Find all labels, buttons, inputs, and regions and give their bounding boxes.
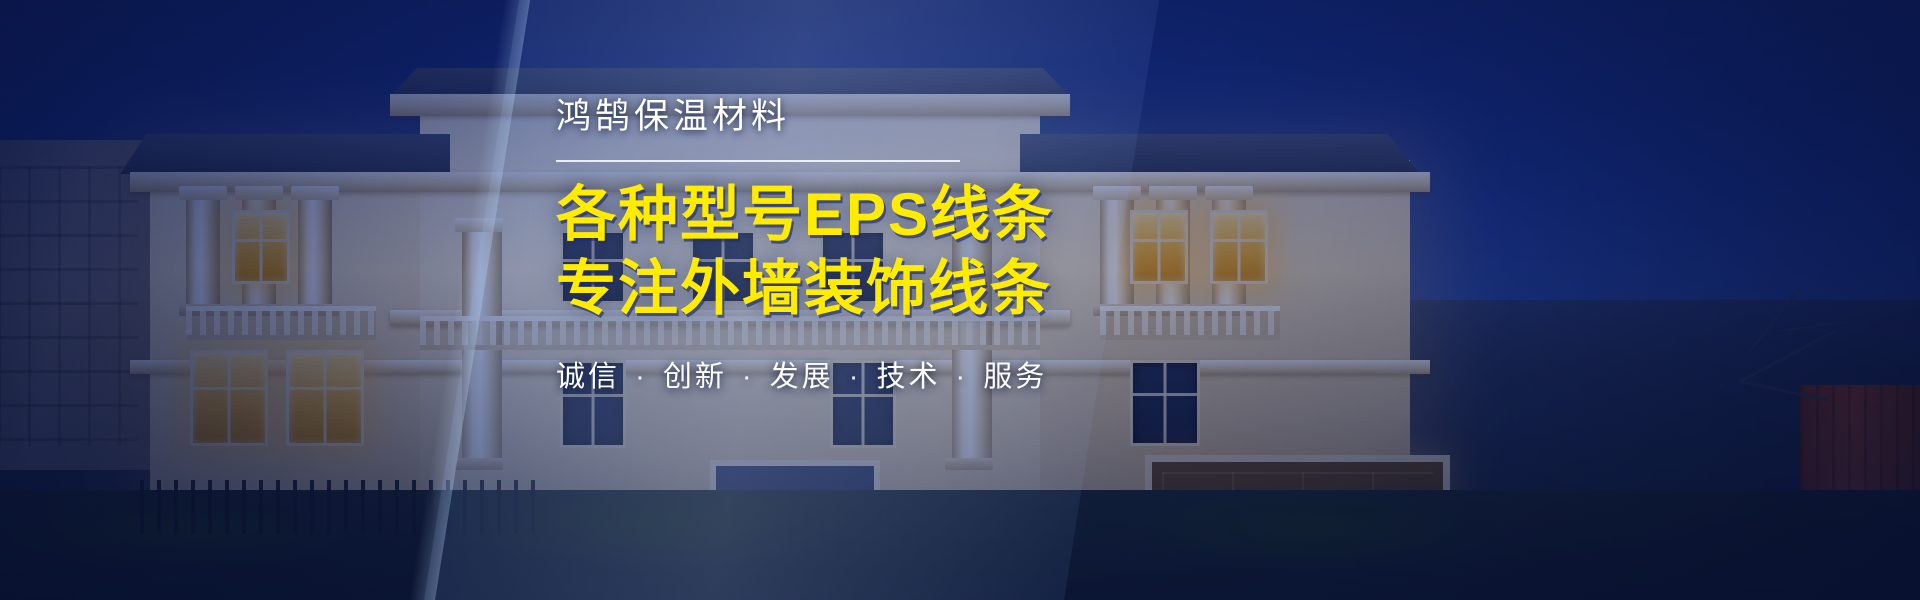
tagline-separator: · — [952, 361, 973, 393]
headline-line-1: 各种型号EPS线条 — [556, 178, 1316, 252]
tagline-separator: · — [845, 361, 866, 393]
tagline-item: 服务 — [983, 361, 1047, 393]
tagline-item: 发展 — [770, 361, 834, 393]
headline-line-2: 专注外墙装饰线条 — [556, 252, 1316, 326]
tagline: 诚信 · 创新 · 发展 · 技术 · 服务 — [556, 353, 1316, 395]
banner-copy: 鸿鹄保温材料 各种型号EPS线条 专注外墙装饰线条 诚信 · 创新 · 发展 ·… — [556, 96, 1316, 395]
tagline-separator: · — [738, 361, 759, 393]
promo-banner: 鸿鹄保温材料 各种型号EPS线条 专注外墙装饰线条 诚信 · 创新 · 发展 ·… — [0, 0, 1920, 600]
tagline-separator: · — [631, 361, 652, 393]
divider-rule — [556, 160, 960, 162]
tagline-item: 技术 — [876, 361, 940, 393]
brand-name: 鸿鹄保温材料 — [556, 96, 1316, 138]
tagline-item: 创新 — [663, 361, 727, 393]
tagline-item: 诚信 — [556, 361, 620, 393]
